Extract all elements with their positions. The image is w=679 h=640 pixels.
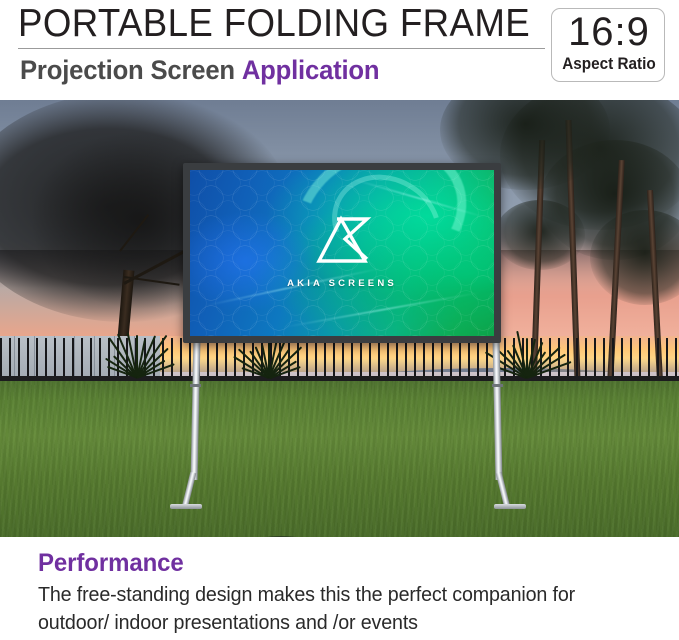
fence-bar [99, 338, 101, 380]
fence-bar [360, 338, 362, 380]
fence-bar [441, 338, 443, 380]
fence-bar [657, 338, 659, 380]
fence-bar [351, 338, 353, 380]
footer-section: Performance The free-standing design mak… [0, 537, 679, 640]
leg-brace [492, 384, 503, 387]
fence-bar [477, 338, 479, 380]
performance-heading: Performance [38, 548, 184, 578]
fence-bar [171, 338, 173, 380]
fence-bar [621, 338, 623, 380]
leg-brace [190, 384, 201, 387]
aspect-ratio-value: 16:9 [552, 10, 666, 54]
title-divider [18, 48, 545, 49]
fence-bar [387, 338, 389, 380]
subtitle-accent: Application [242, 55, 380, 85]
fence-bar [603, 338, 605, 380]
fence-bar [27, 338, 29, 380]
fence-bar [639, 338, 641, 380]
fence-bar [225, 338, 227, 380]
screen-branding: AKIA SCREENS [190, 213, 494, 289]
fence-bar [567, 338, 569, 380]
fence-bar [459, 338, 461, 380]
fence-bar [333, 338, 335, 380]
projection-screen-surface: AKIA SCREENS [190, 170, 494, 336]
fence-bar [405, 338, 407, 380]
fence-bar [324, 338, 326, 380]
main-title-row: PORTABLE FOLDING FRAME [18, 2, 548, 48]
stand-foot-right [494, 504, 526, 509]
fence-bar [594, 338, 596, 380]
fence-bar [396, 338, 398, 380]
fence-bar [54, 338, 56, 380]
fence-bar [369, 338, 371, 380]
fence-bar [450, 338, 452, 380]
yucca-plant [116, 328, 156, 378]
fence-bar [423, 338, 425, 380]
akia-triangle-logo-icon [311, 213, 373, 269]
fence-bar [315, 338, 317, 380]
fence-bar [81, 338, 83, 380]
fence-bar [243, 338, 245, 380]
fence-bar [63, 338, 65, 380]
fence-bar [612, 338, 614, 380]
fence-bar [675, 338, 677, 380]
fence-bar [432, 338, 434, 380]
fence-bar [9, 338, 11, 380]
fence-bar [189, 338, 191, 380]
aspect-ratio-label: Aspect Ratio [558, 54, 661, 74]
fence-bar [306, 338, 308, 380]
subtitle-primary: Projection Screen [20, 55, 235, 85]
stand-foot-left [170, 504, 202, 509]
projection-screen-frame: AKIA SCREENS [183, 163, 501, 343]
yucca-plant [506, 328, 546, 378]
fence-bar [414, 338, 416, 380]
subtitle: Projection Screen Application [20, 53, 379, 87]
product-photo: AKIA SCREENS [0, 100, 679, 537]
fence-bar [45, 338, 47, 380]
fence-bar [648, 338, 650, 380]
fence-bar [378, 338, 380, 380]
header-banner: PORTABLE FOLDING FRAME Projection Screen… [0, 0, 679, 100]
fence-bar [90, 338, 92, 380]
fence-bar [630, 338, 632, 380]
fence-bar [0, 338, 2, 380]
fence-bar [72, 338, 74, 380]
fence-bar [216, 338, 218, 380]
brand-name: AKIA SCREENS [190, 278, 494, 289]
fence-bar [468, 338, 470, 380]
fence-bar [36, 338, 38, 380]
fence-bar [207, 338, 209, 380]
page-title: PORTABLE FOLDING FRAME [18, 2, 516, 46]
fence-bar [585, 338, 587, 380]
fence-bar [342, 338, 344, 380]
fence-bar [666, 338, 668, 380]
fence-bar [486, 338, 488, 380]
aspect-ratio-badge: 16:9 Aspect Ratio [551, 8, 665, 82]
fence-bar [180, 338, 182, 380]
fence-bar [297, 338, 299, 380]
fence-bar [576, 338, 578, 380]
fence-bar [18, 338, 20, 380]
performance-body-text: The free-standing design makes this the … [38, 581, 631, 637]
fence-bar [549, 338, 551, 380]
lawn-texture [0, 381, 679, 537]
